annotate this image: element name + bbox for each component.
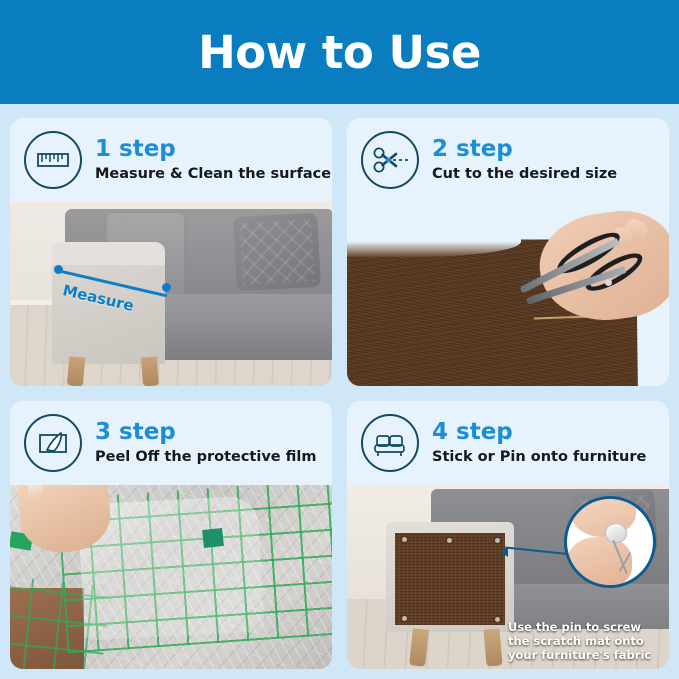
sofa-leg xyxy=(67,356,86,386)
step-4-header: 4 step Stick or Pin onto furniture xyxy=(347,401,669,485)
step-card-1: 1 step Measure & Clean the surface xyxy=(10,118,332,386)
step-3-photo xyxy=(10,485,332,669)
ruler-icon xyxy=(24,131,82,189)
step-card-4: 4 step Stick or Pin onto furniture xyxy=(347,401,669,669)
sofa-icon xyxy=(361,414,419,472)
step-2-label: 2 step xyxy=(432,137,617,161)
pin xyxy=(402,537,407,542)
step-1-header: 1 step Measure & Clean the surface xyxy=(10,118,332,202)
pin-closeup-callout xyxy=(564,496,656,588)
pin xyxy=(402,616,407,621)
step-card-2: 2 step Cut to the desired size xyxy=(347,118,669,386)
caption-line-1: Use the pin to screw xyxy=(508,620,651,634)
measure-annotation: Measure xyxy=(52,257,174,312)
thumbnail xyxy=(27,485,43,501)
measure-endpoint-dot xyxy=(162,283,171,292)
scissors-icon xyxy=(361,131,419,189)
page-title: How to Use xyxy=(198,26,481,79)
step-2-description: Cut to the desired size xyxy=(432,165,617,183)
step-4-text: 4 step Stick or Pin onto furniture xyxy=(432,420,646,465)
caption-line-3: your furniture's fabric xyxy=(508,648,651,662)
step-1-description: Measure & Clean the surface xyxy=(95,165,331,183)
step-3-text: 3 step Peel Off the protective film xyxy=(95,420,317,465)
step-2-text: 2 step Cut to the desired size xyxy=(432,137,617,182)
green-marker-square xyxy=(202,528,224,548)
throw-pillow xyxy=(234,213,321,291)
peel-film-icon xyxy=(24,414,82,472)
step-3-header: 3 step Peel Off the protective film xyxy=(10,401,332,485)
step-3-description: Peel Off the protective film xyxy=(95,448,317,466)
step-1-text: 1 step Measure & Clean the surface xyxy=(95,137,331,182)
sofa-leg xyxy=(141,356,159,386)
step-4-caption: Use the pin to screw the scratch mat ont… xyxy=(508,620,651,662)
step-2-header: 2 step Cut to the desired size xyxy=(347,118,669,202)
twist-pin-head xyxy=(605,523,627,543)
steps-grid: 1 step Measure & Clean the surface xyxy=(10,118,669,669)
step-1-photo: Measure xyxy=(10,202,332,386)
step-4-label: 4 step xyxy=(432,420,646,444)
step-card-3: 3 step Peel Off the protective film xyxy=(10,401,332,669)
sofa-seat-front xyxy=(139,327,332,360)
step-4-description: Stick or Pin onto furniture xyxy=(432,448,646,466)
caption-line-2: the scratch mat onto xyxy=(508,634,651,648)
mounted-scratch-mat xyxy=(395,533,504,625)
step-2-photo xyxy=(347,202,669,386)
step-3-label: 3 step xyxy=(95,420,317,444)
page-header: How to Use xyxy=(0,0,679,104)
step-1-label: 1 step xyxy=(95,137,331,161)
step-4-photo: Use the pin to screw the scratch mat ont… xyxy=(347,485,669,669)
scissors-pivot xyxy=(605,279,612,286)
how-to-use-infographic: How to Use 1 step xyxy=(0,0,679,679)
